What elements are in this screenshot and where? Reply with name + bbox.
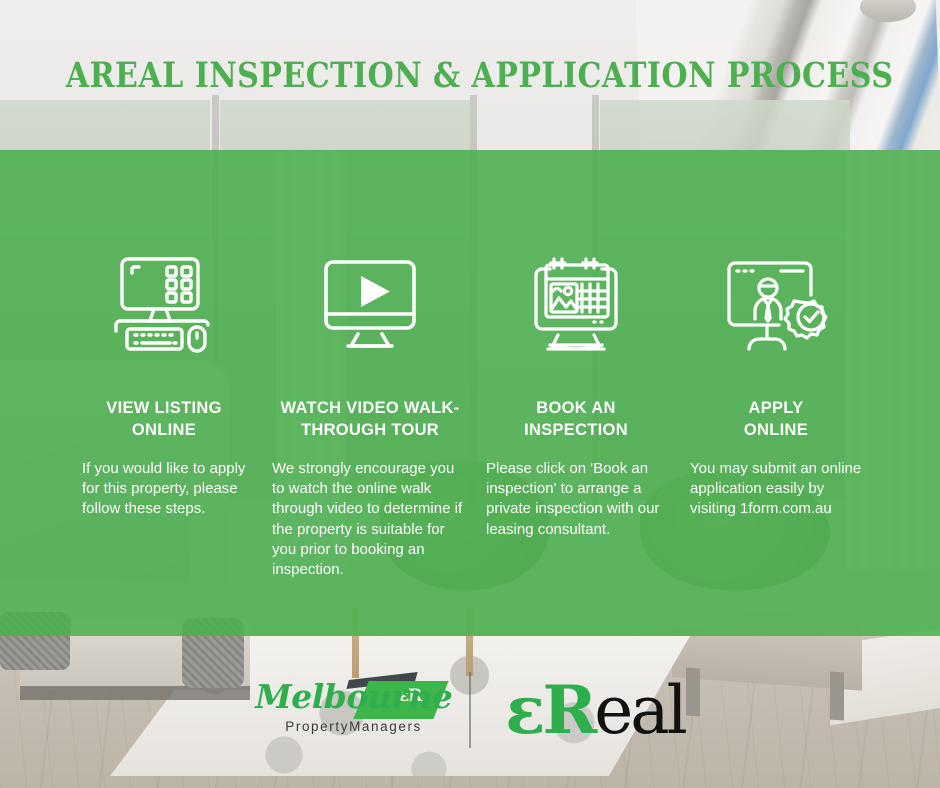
step-3-title: BOOK AN INSPECTION <box>524 398 628 442</box>
step-apply-online: APPLY ONLINE You may submit an online ap… <box>676 250 876 520</box>
logo-divider <box>469 672 471 748</box>
step-1-title-line2: ONLINE <box>106 420 221 442</box>
step-4-title-line2: ONLINE <box>744 420 808 442</box>
step-book-an-inspection: BOOK AN INSPECTION Please click on 'Book… <box>476 250 676 540</box>
step-3-icon-wrap <box>520 250 632 360</box>
logo-subtext: PropertyManagers <box>285 719 422 734</box>
steps-row: VIEW LISTING ONLINE If you would like to… <box>0 250 940 581</box>
step-4-title-line1: APPLY <box>744 398 808 420</box>
step-3-title-line2: INSPECTION <box>524 420 628 442</box>
monitor-play-video-icon <box>314 256 426 354</box>
step-3-body: Please click on 'Book an inspection' to … <box>484 459 668 541</box>
step-1-icon-wrap <box>110 250 218 360</box>
infographic-poster: AREAL INSPECTION & APPLICATION PROCESS <box>0 0 940 788</box>
step-watch-video-walkthrough: WATCH VIDEO WALK- THROUGH TOUR We strong… <box>264 250 476 581</box>
step-1-body: If you would like to apply for this prop… <box>72 459 256 520</box>
step-2-title: WATCH VIDEO WALK- THROUGH TOUR <box>281 398 460 442</box>
areal-logo-green-part: ɛR <box>505 677 594 743</box>
logo-wordmark: Melbourne <box>255 677 452 716</box>
step-view-listing-online: VIEW LISTING ONLINE If you would like to… <box>64 250 264 520</box>
footer-logos: ɛR Melbourne PropertyManagers ɛR eal <box>0 672 940 748</box>
step-4-icon-wrap <box>717 250 835 360</box>
step-3-title-line1: BOOK AN <box>524 398 628 420</box>
step-1-title: VIEW LISTING ONLINE <box>106 398 221 442</box>
step-2-title-line2: THROUGH TOUR <box>281 420 460 442</box>
areal-logo-black-part: eal <box>594 678 685 744</box>
monitor-calendar-photo-icon <box>520 255 632 355</box>
step-1-title-line1: VIEW LISTING <box>106 398 221 420</box>
melbourne-property-managers-logo[interactable]: ɛR Melbourne PropertyManagers <box>255 673 435 747</box>
page-title: AREAL INSPECTION & APPLICATION PROCESS <box>66 55 874 96</box>
step-2-body: We strongly encourage you to watch the o… <box>272 459 468 581</box>
step-2-title-line1: WATCH VIDEO WALK- <box>281 398 460 420</box>
step-4-title: APPLY ONLINE <box>744 398 808 442</box>
step-4-body: You may submit an online application eas… <box>684 459 868 520</box>
monitor-person-gear-check-icon <box>717 255 835 355</box>
play-triangle <box>361 276 390 307</box>
areal-logo[interactable]: ɛR eal <box>505 677 685 744</box>
step-2-icon-wrap <box>314 250 426 360</box>
monitor-keyboard-mouse-icon <box>110 255 218 355</box>
